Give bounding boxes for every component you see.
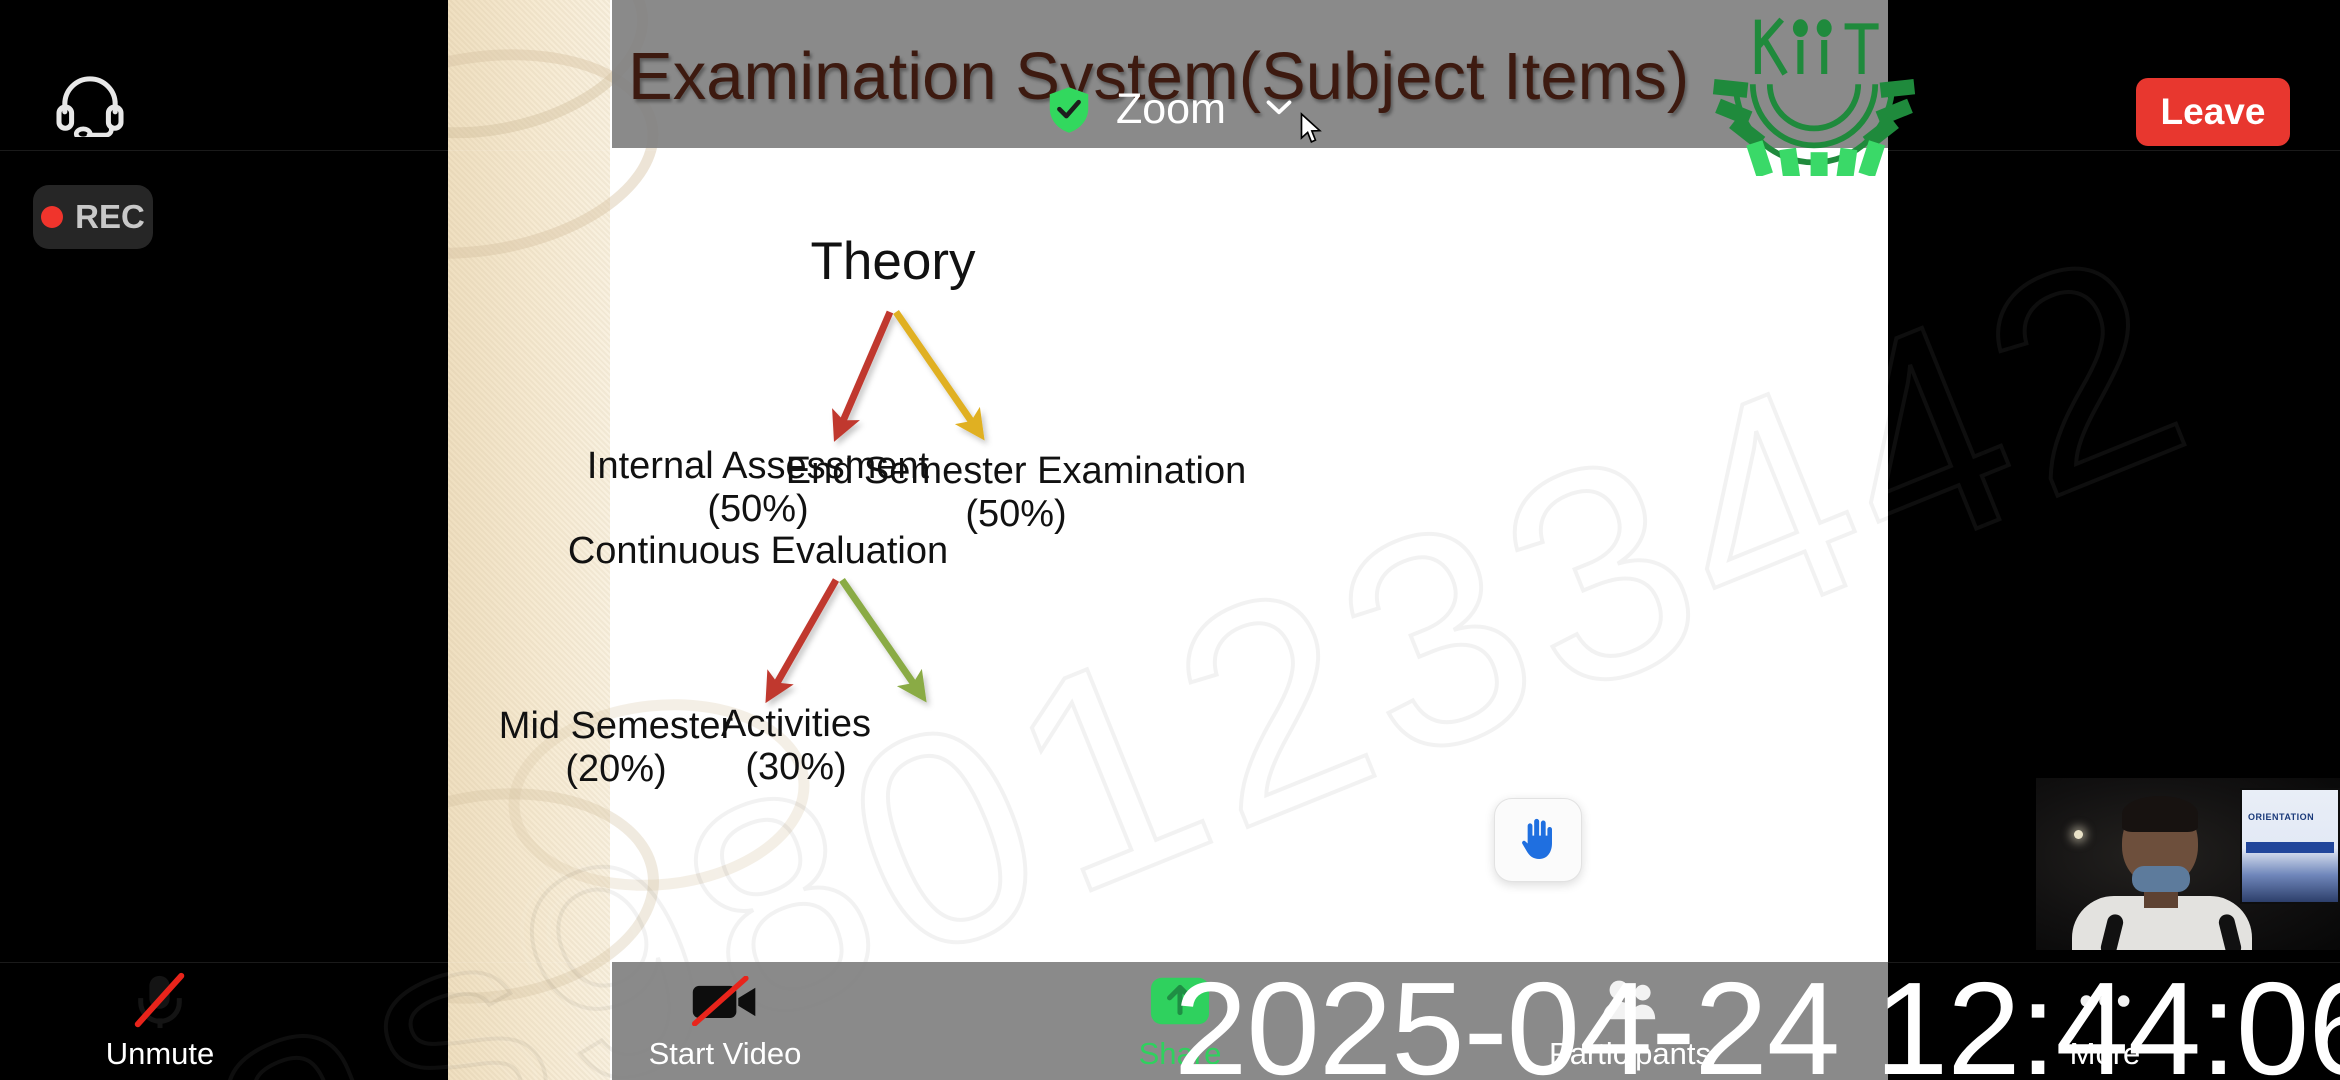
toolbar-button-share[interactable]: Share xyxy=(1075,968,1285,1080)
zoom-meeting-window: Theory Internal Assessment (50%) Continu… xyxy=(0,0,2340,1080)
recording-label: REC xyxy=(75,198,145,236)
mouse-pointer-icon xyxy=(1300,112,1324,146)
thumbnail-projector-slide: ORIENTATION xyxy=(2240,788,2340,904)
toolbar-label-share: Share xyxy=(1139,1036,1222,1072)
diagram-node-theory: Theory xyxy=(748,232,1038,291)
toolbar-button-more[interactable]: More xyxy=(2000,968,2210,1080)
raised-hand-icon xyxy=(1515,814,1561,866)
meeting-app-label: Zoom xyxy=(1116,85,1226,134)
divider-line-top xyxy=(0,150,2340,151)
toolbar-button-start-video[interactable]: Start Video xyxy=(620,968,830,1080)
raise-hand-button[interactable] xyxy=(1494,798,1582,882)
leave-button[interactable]: Leave xyxy=(2136,78,2290,146)
thumbnail-person-mask xyxy=(2132,866,2190,892)
toolbar-button-unmute[interactable]: Unmute xyxy=(55,968,265,1080)
video-camera-off-icon xyxy=(689,972,761,1030)
shared-screen-slide: Theory Internal Assessment (50%) Continu… xyxy=(448,0,1888,1080)
microphone-muted-icon xyxy=(127,972,193,1030)
toolbar-label-start-video: Start Video xyxy=(649,1036,802,1072)
self-video-thumbnail[interactable]: ORIENTATION xyxy=(2036,778,2340,950)
chevron-down-icon[interactable] xyxy=(1265,96,1293,118)
headset-icon[interactable] xyxy=(55,75,125,137)
thumbnail-slide-title: ORIENTATION xyxy=(2248,812,2314,822)
diagram-node-end-semester-examination: End Semester Examination (50%) xyxy=(766,450,1266,535)
diagram-node-activities: Activities (30%) xyxy=(666,703,926,788)
status-badge-recording: REC xyxy=(33,185,153,249)
toolbar-button-participants[interactable]: Participants xyxy=(1525,968,1735,1080)
thumbnail-light-spot xyxy=(2074,830,2083,839)
kiit-logo xyxy=(1712,6,1916,176)
more-ellipsis-icon xyxy=(2077,972,2133,1030)
participants-icon xyxy=(1599,972,1661,1030)
shield-check-icon xyxy=(1048,87,1090,133)
toolbar-label-participants: Participants xyxy=(1549,1036,1711,1072)
thumbnail-person-hair xyxy=(2122,796,2198,832)
toolbar-label-unmute: Unmute xyxy=(106,1036,215,1072)
thumbnail-slide-band xyxy=(2246,842,2334,853)
toolbar-label-more: More xyxy=(2070,1036,2141,1072)
record-dot-icon xyxy=(41,206,63,228)
share-screen-icon xyxy=(1149,972,1211,1030)
